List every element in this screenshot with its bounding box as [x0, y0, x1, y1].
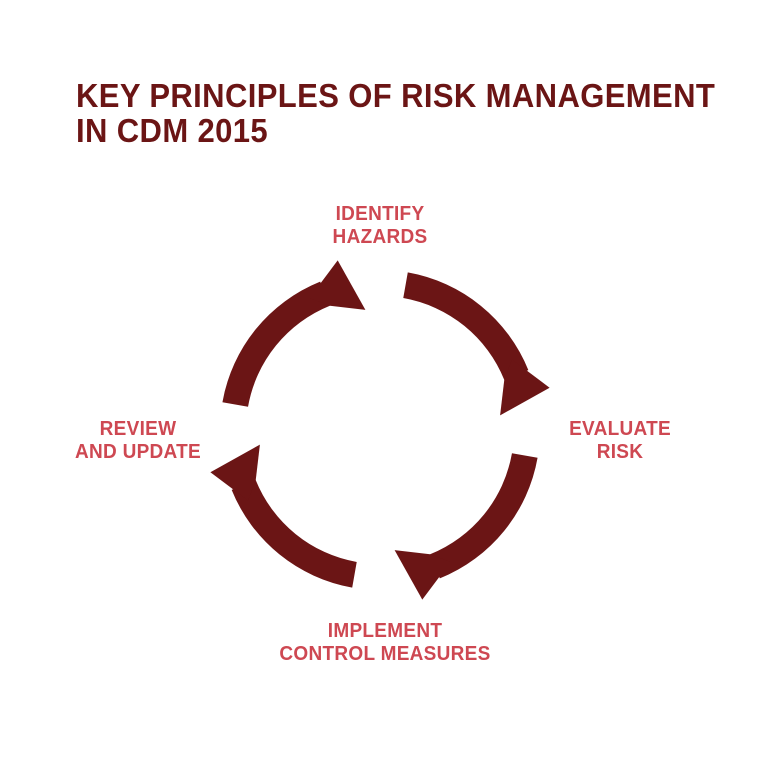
stage-label-identify-hazards-line-1: IDENTIFY: [285, 203, 475, 226]
stage-label-evaluate-risk: EVALUATE RISK: [544, 418, 696, 464]
cycle-arrow-left: [222, 260, 365, 406]
cycle-arrow-right: [395, 453, 538, 599]
stage-label-review-and-update-line-1: REVIEW: [53, 418, 224, 441]
stage-label-identify-hazards-line-2: HAZARDS: [285, 226, 475, 249]
stage-label-evaluate-risk-line-2: RISK: [544, 441, 696, 464]
stage-label-review-and-update: REVIEW AND UPDATE: [53, 418, 224, 464]
cycle-arrow-top: [403, 272, 549, 415]
title-line-2: IN CDM 2015: [76, 113, 678, 148]
stage-label-review-and-update-line-2: AND UPDATE: [53, 441, 224, 464]
stage-label-implement-control-measures-line-2: CONTROL MEASURES: [262, 643, 509, 666]
stage-label-implement-control-measures: IMPLEMENT CONTROL MEASURES: [262, 620, 509, 666]
title-line-1: KEY PRINCIPLES OF RISK MANAGEMENT: [76, 78, 678, 113]
stage-label-implement-control-measures-line-1: IMPLEMENT: [262, 620, 509, 643]
stage-label-identify-hazards: IDENTIFY HAZARDS: [285, 203, 475, 249]
cycle-diagram: [220, 270, 540, 590]
stage-label-evaluate-risk-line-1: EVALUATE: [544, 418, 696, 441]
cycle-arrow-bottom: [210, 445, 356, 588]
infographic-canvas: KEY PRINCIPLES OF RISK MANAGEMENT IN CDM…: [0, 0, 768, 768]
page-title: KEY PRINCIPLES OF RISK MANAGEMENT IN CDM…: [76, 78, 716, 148]
